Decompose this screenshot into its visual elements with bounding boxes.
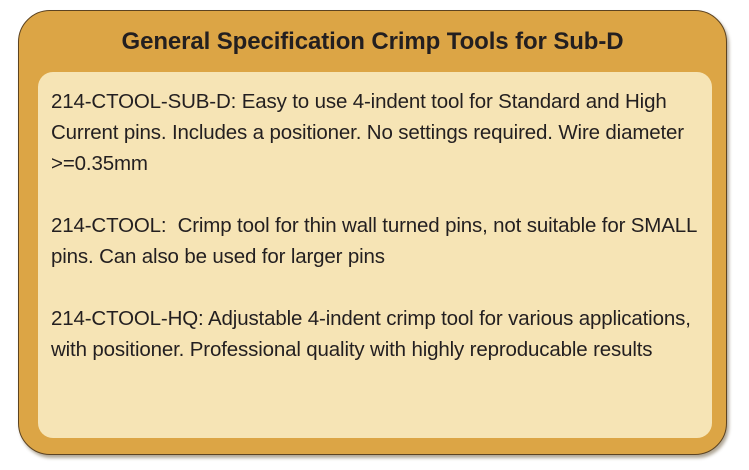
page-root: General Specification Crimp Tools for Su… <box>0 0 749 470</box>
paragraph-spacer <box>51 179 710 210</box>
paragraph-spacer <box>51 272 710 303</box>
specification-card: General Specification Crimp Tools for Su… <box>18 10 727 455</box>
spec-paragraph-ctool-hq: 214-CTOOL-HQ: Adjustable 4-indent crimp … <box>51 303 710 365</box>
page-title: General Specification Crimp Tools for Su… <box>19 11 726 72</box>
spec-paragraph-ctool: 214-CTOOL: Crimp tool for thin wall turn… <box>51 210 710 272</box>
spec-paragraph-ctool-sub-d: 214-CTOOL-SUB-D: Easy to use 4-indent to… <box>51 86 710 179</box>
specification-panel: 214-CTOOL-SUB-D: Easy to use 4-indent to… <box>38 72 712 438</box>
